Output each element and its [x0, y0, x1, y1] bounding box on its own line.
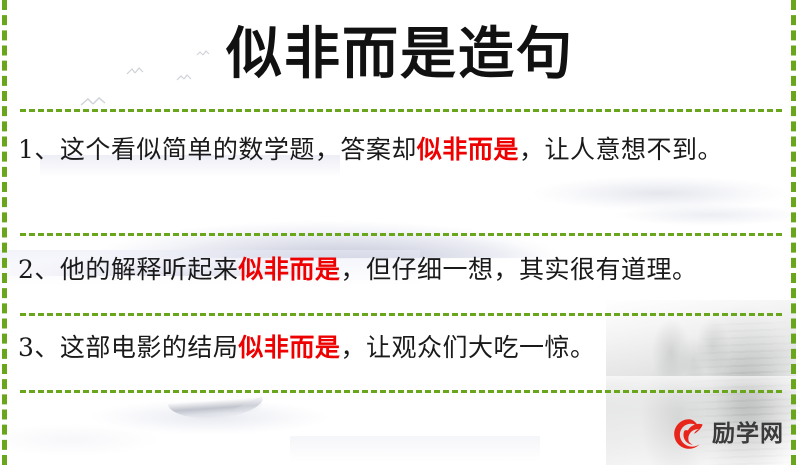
sentence-number-2: 2、: [18, 255, 60, 284]
sentence-item-1: 1、这个看似简单的数学题，答案却似非而是，让人意想不到。: [18, 129, 770, 171]
sentence-item-3: 3、这部电影的结局似非而是，让观众们大吃一惊。: [18, 327, 770, 369]
keyword-highlight-1: 似非而是: [417, 135, 519, 164]
sentence-text-after-2: ，但仔细一想，其实很有道理。: [340, 255, 697, 284]
site-logo-text: 励学网: [712, 417, 784, 451]
frame-border-right: [791, 0, 796, 465]
frame-border-left: [2, 0, 7, 465]
sentence-text-before-1: 这个看似简单的数学题，答案却: [60, 135, 417, 164]
keyword-highlight-3: 似非而是: [238, 333, 340, 362]
keyword-highlight-2: 似非而是: [238, 255, 340, 284]
sentence-text-before-3: 这部电影的结局: [60, 333, 239, 362]
sentence-item-2: 2、他的解释听起来似非而是，但仔细一想，其实很有道理。: [18, 249, 770, 291]
divider-after-sentence-2: [20, 313, 782, 316]
divider-below-title: [20, 109, 782, 112]
site-logo: 励学网: [672, 417, 784, 451]
sentence-text-after-3: ，让观众们大吃一惊。: [340, 333, 595, 362]
divider-after-sentence-1: [20, 233, 782, 236]
sentence-text-before-2: 他的解释听起来: [60, 255, 239, 284]
poster-page: 似非而是造句 1、这个看似简单的数学题，答案却似非而是，让人意想不到。 2、他的…: [0, 0, 800, 465]
sentence-number-1: 1、: [18, 135, 60, 164]
sentence-number-3: 3、: [18, 333, 60, 362]
divider-after-sentence-3: [20, 390, 782, 393]
flame-swirl-icon: [672, 417, 706, 451]
page-title: 似非而是造句: [0, 19, 800, 89]
sentence-text-after-1: ，让人意想不到。: [519, 135, 723, 164]
